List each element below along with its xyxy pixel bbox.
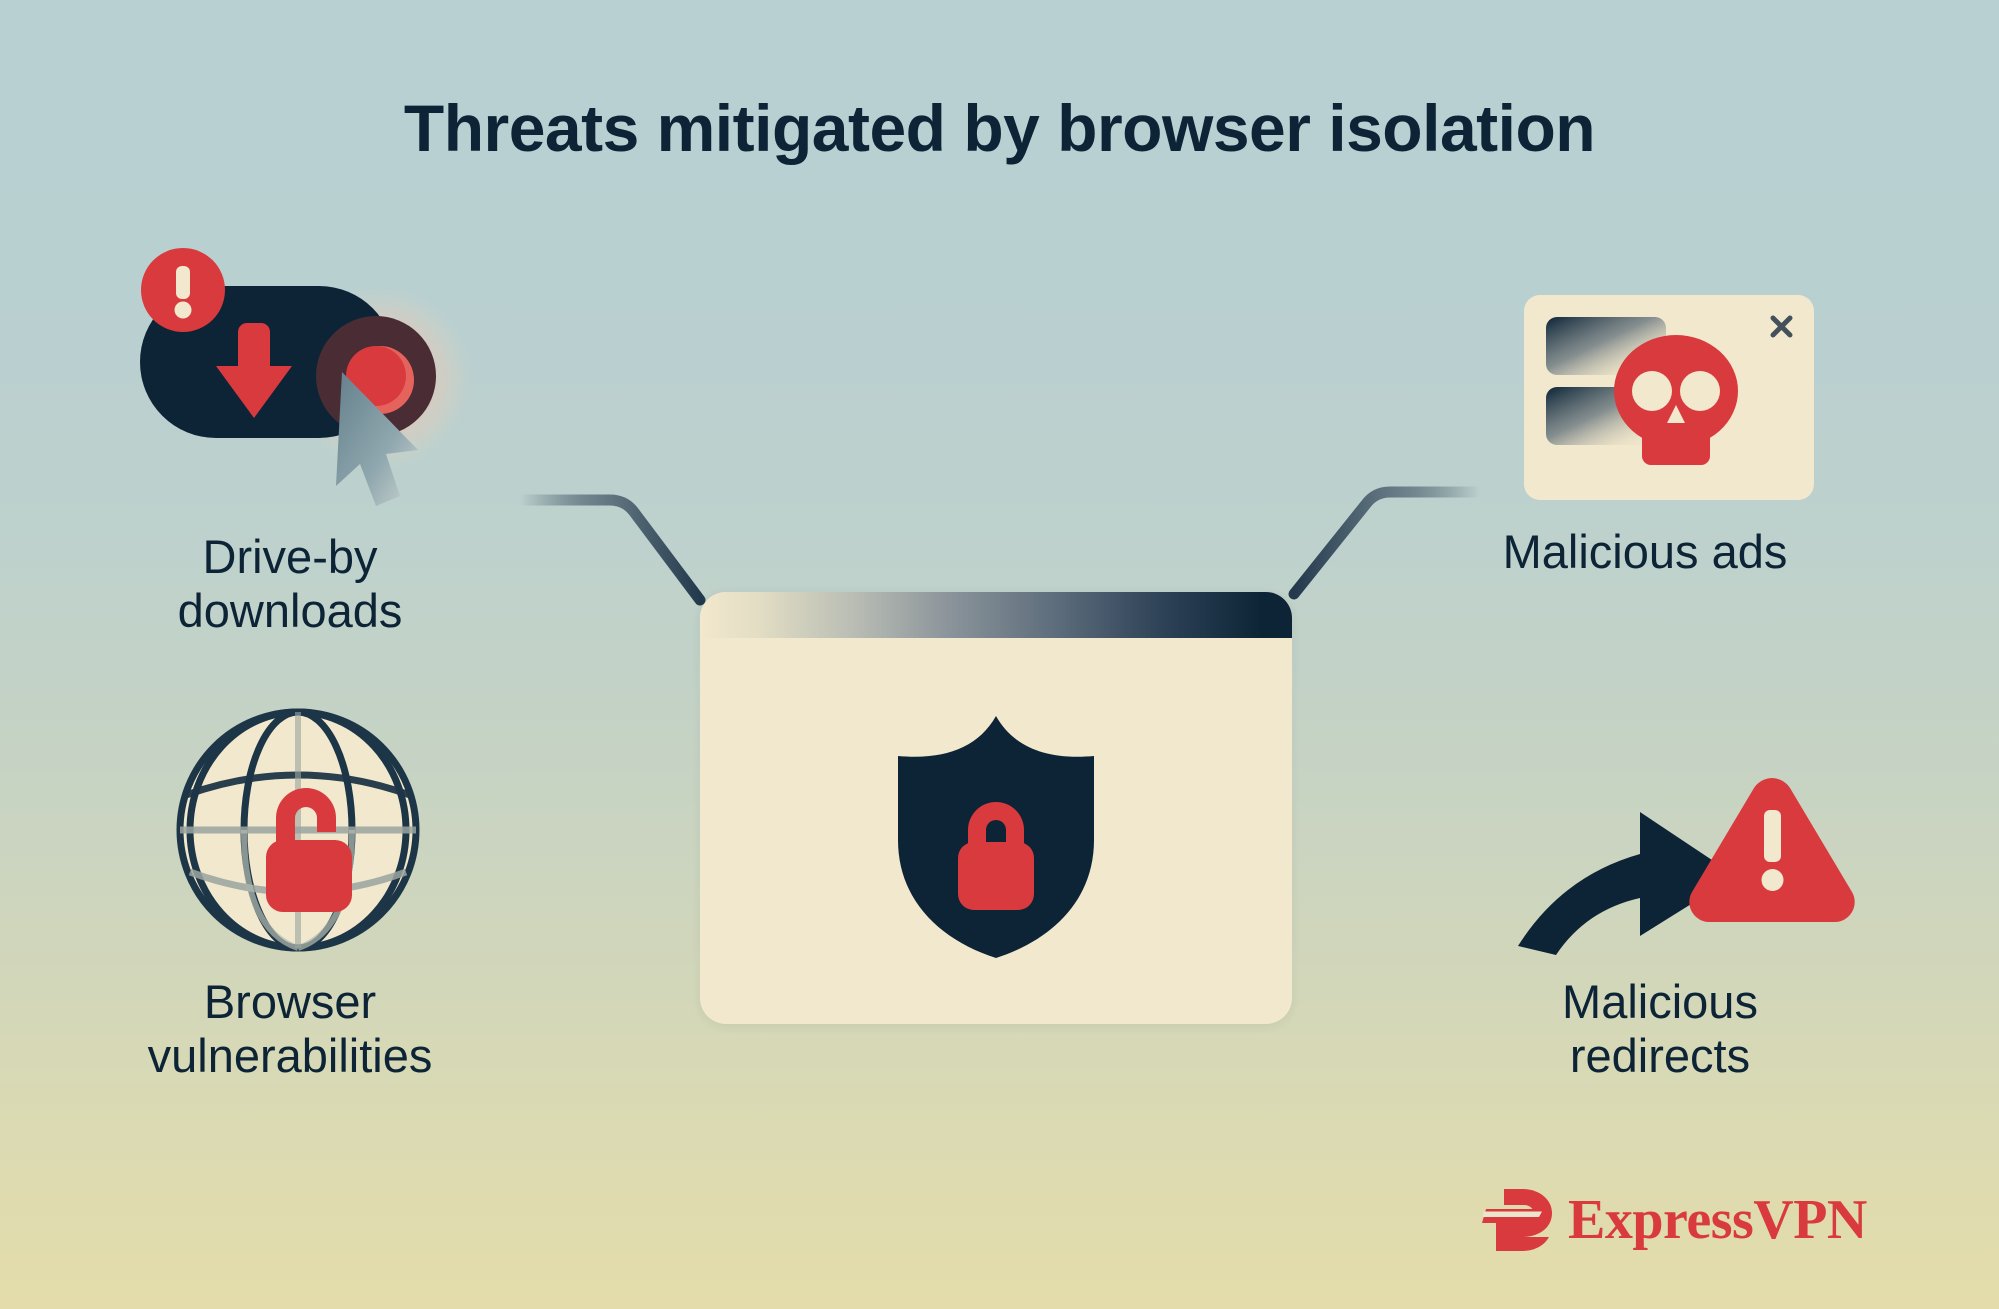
isolated-browser-window	[700, 592, 1292, 1024]
arrow-warning-icon	[1500, 750, 1860, 970]
skull-popup-icon	[1524, 295, 1814, 500]
expressvpn-logo: ExpressVPN	[1482, 1180, 1852, 1260]
expressvpn-wordmark: ExpressVPN	[1568, 1192, 1867, 1248]
threat-label-malicious-redirects: Malicious redirects	[1450, 975, 1870, 1082]
shield-lock-icon	[882, 712, 1110, 962]
globe-unlocked-icon	[168, 700, 428, 960]
infographic-canvas: Threats mitigated by browser isolation	[0, 0, 1999, 1309]
browser-title-bar	[700, 592, 1292, 638]
page-title: Threats mitigated by browser isolation	[0, 92, 1999, 165]
download-arrow-icon	[118, 228, 538, 528]
expressvpn-e-mark	[1482, 1187, 1556, 1253]
threat-label-browser-vulnerabilities: Browser vulnerabilities	[50, 975, 530, 1082]
threat-label-malicious-ads: Malicious ads	[1430, 525, 1860, 579]
threat-label-drive-by-downloads: Drive-by downloads	[70, 530, 510, 637]
